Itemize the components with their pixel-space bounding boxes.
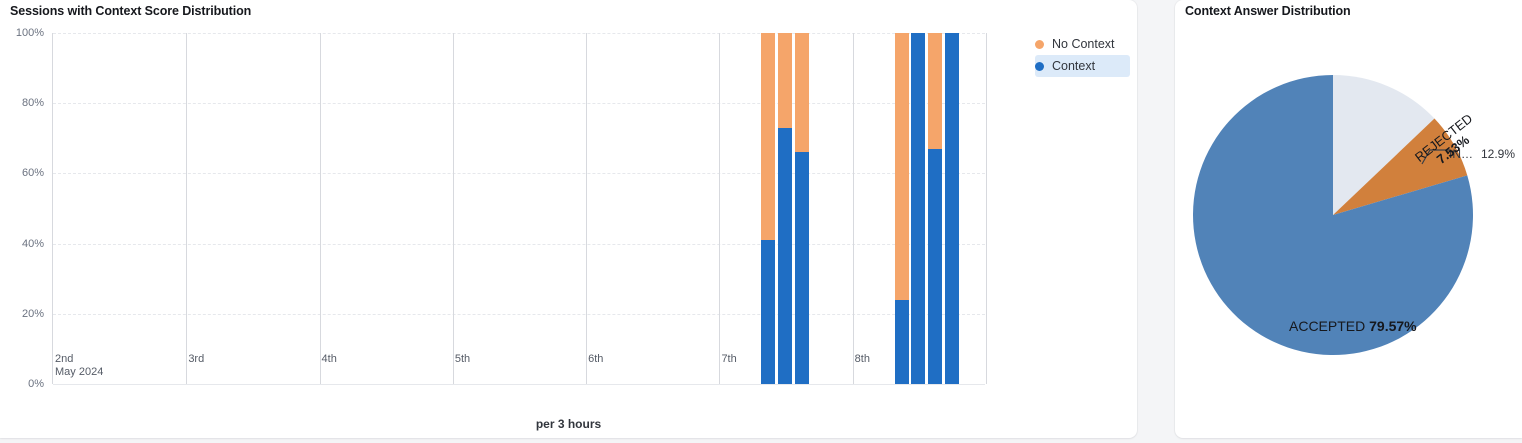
x-axis-tick-day: 7th [721,353,736,365]
pie-label-accepted-name: ACCEPTED [1289,318,1365,334]
bar-plot-area [52,33,985,384]
x-axis-tick-label: 4th [319,353,337,366]
bar-segment-no-context[interactable] [895,33,909,300]
gridline-horizontal [53,173,985,174]
x-axis-tick-label: 7th [718,353,736,366]
chart-interval-label: per 3 hours [0,417,1137,431]
legend-item-label: No Context [1052,37,1115,51]
x-axis-tick-month: May 2024 [55,366,103,379]
gridline-horizontal [53,384,985,385]
y-axis-tick-label: 60% [0,167,44,179]
x-axis-tick-day: 5th [455,353,470,365]
stacked-bar[interactable] [895,33,909,384]
x-axis-tick-day: 4th [322,353,337,365]
y-axis-tick-label: 40% [0,238,44,250]
sessions-context-score-panel: Sessions with Context Score Distribution… [0,0,1137,438]
legend-color-dot-icon [1035,40,1044,49]
bar-segment-context[interactable] [778,128,792,384]
stacked-bar[interactable] [911,33,925,384]
pie-slices [1193,75,1473,355]
bar-segment-context[interactable] [895,300,909,384]
chart-legend: No ContextContext [1035,33,1130,77]
stacked-bar[interactable] [778,33,792,384]
gridline-vertical [586,33,587,384]
pie-label-incomplete-value: 12.9% [1481,147,1515,161]
bar-segment-context[interactable] [761,240,775,384]
page-title: Sessions with Context Score Distribution [10,4,251,18]
legend-item-no-context[interactable]: No Context [1035,33,1130,55]
context-answer-distribution-panel: Context Answer Distribution IN…12.9% REJ… [1175,0,1522,438]
gridline-horizontal [53,103,985,104]
legend-item-label: Context [1052,59,1095,73]
stacked-bar[interactable] [795,33,809,384]
x-axis-tick-day: 8th [855,353,870,365]
stacked-bar[interactable] [928,33,942,384]
legend-color-dot-icon [1035,62,1044,71]
dashboard-root: Sessions with Context Score Distribution… [0,0,1522,443]
gridline-horizontal [53,244,985,245]
bar-segment-no-context[interactable] [778,33,792,128]
bar-segment-context[interactable] [795,152,809,384]
bar-segment-context[interactable] [911,33,925,384]
bar-segment-no-context[interactable] [928,33,942,149]
pie-label-accepted-value: 79.57% [1369,318,1416,334]
x-axis-tick-day: 6th [588,353,603,365]
bar-segment-no-context[interactable] [761,33,775,240]
stacked-bar[interactable] [761,33,775,384]
x-axis-tick-day: 2nd [55,353,73,365]
gridline-vertical [453,33,454,384]
y-axis-tick-label: 100% [0,27,44,39]
bar-segment-no-context[interactable] [795,33,809,152]
gridline-horizontal [53,33,985,34]
bar-segment-context[interactable] [945,33,959,384]
x-axis-tick-label: 6th [585,353,603,366]
x-axis-tick-label: 8th [852,353,870,366]
stacked-bar[interactable] [945,33,959,384]
gridline-horizontal [53,314,985,315]
pie-chart: IN…12.9% REJECTED 7.53% ACCEPTED 79.57% [1193,75,1503,385]
pie-panel-title: Context Answer Distribution [1185,4,1351,18]
y-axis-tick-label: 80% [0,97,44,109]
gridline-vertical [719,33,720,384]
bar-segment-context[interactable] [928,149,942,384]
x-axis-tick-day: 3rd [188,353,204,365]
x-axis-tick-label: 2ndMay 2024 [52,353,103,379]
y-axis-tick-label: 0% [0,378,44,390]
y-axis-tick-label: 20% [0,308,44,320]
gridline-vertical [320,33,321,384]
x-axis-tick-label: 5th [452,353,470,366]
pie-label-accepted: ACCEPTED 79.57% [1289,318,1417,334]
gridline-vertical [986,33,987,384]
gridline-vertical [186,33,187,384]
legend-item-context[interactable]: Context [1035,55,1130,77]
gridline-vertical [853,33,854,384]
x-axis-tick-label: 3rd [185,353,204,366]
